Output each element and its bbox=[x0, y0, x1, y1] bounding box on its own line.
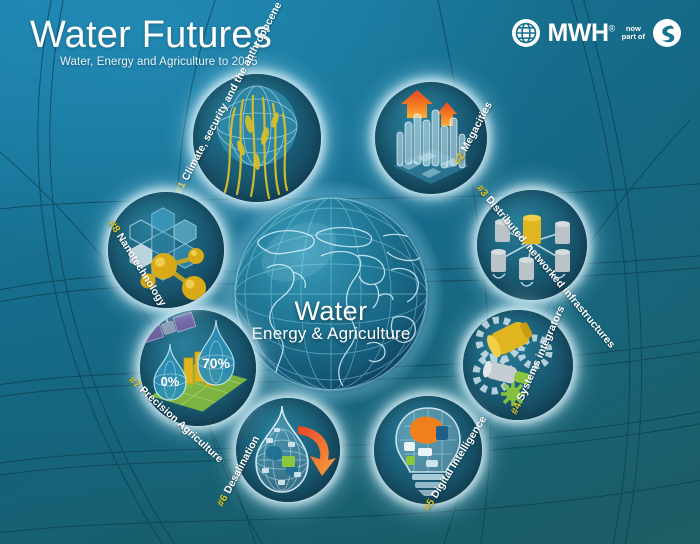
droplet-value-low: 0% bbox=[161, 374, 180, 389]
logo-mwh-text: MWH® bbox=[548, 21, 615, 46]
logo-registered-mark: ® bbox=[609, 23, 615, 33]
stantec-swirl-icon bbox=[652, 18, 682, 48]
droplet-value-high: 70% bbox=[202, 355, 231, 371]
brand-logo: MWH® now part of bbox=[511, 18, 682, 48]
page-subtitle: Water, Energy and Agriculture to 2035 bbox=[60, 56, 258, 68]
logo-now-part-of: now part of bbox=[622, 25, 645, 41]
logo-part-of-label: part of bbox=[622, 33, 645, 41]
logo-mwh-label: MWH bbox=[548, 19, 609, 47]
page-title: Water Futures bbox=[30, 14, 272, 57]
infographic-canvas: Water Futures Water, Energy and Agricult… bbox=[0, 0, 700, 544]
globe-icon bbox=[511, 18, 541, 48]
